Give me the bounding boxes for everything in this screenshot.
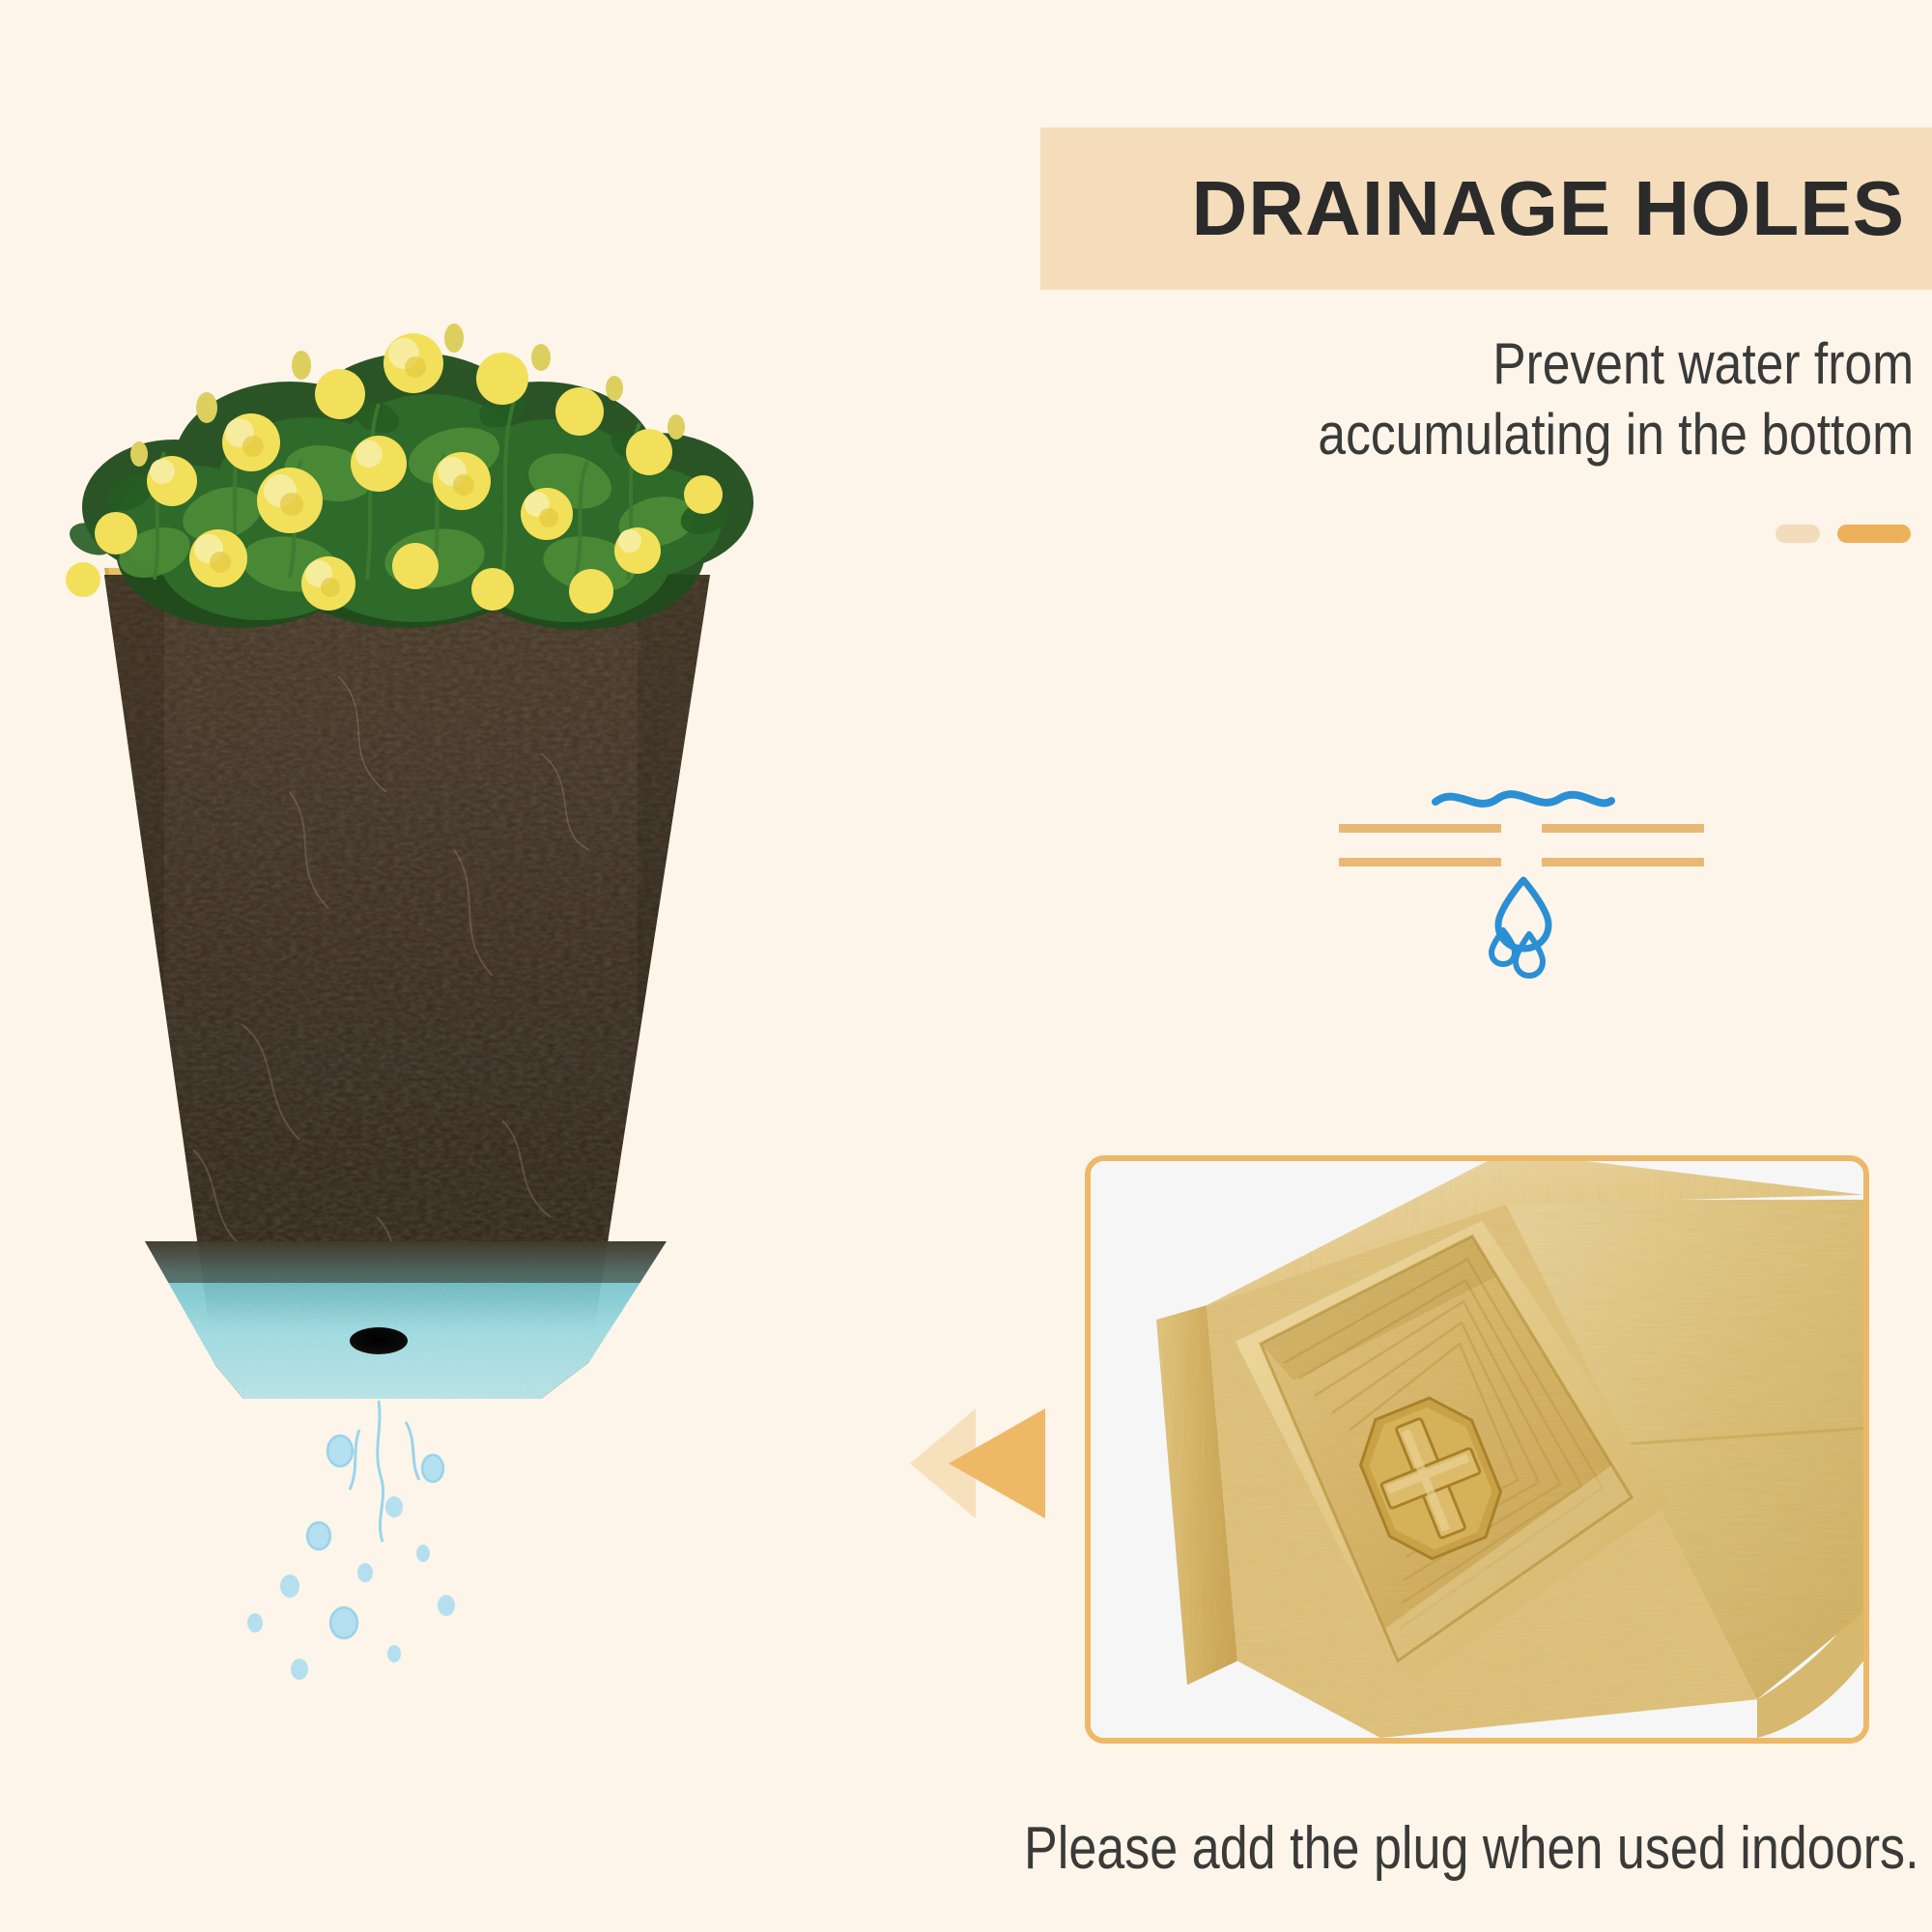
double-left-arrow	[889, 1401, 1082, 1526]
page-title: DRAINAGE HOLES	[1192, 170, 1906, 247]
water-draining-through-hole-icon	[1321, 768, 1727, 990]
drainage-hole	[350, 1327, 408, 1354]
surface-bars	[1339, 824, 1704, 867]
water-droplets	[247, 1435, 455, 1680]
infographic-canvas: DRAINAGE HOLES Prevent water from accumu…	[0, 0, 1932, 1932]
title-banner: DRAINAGE HOLES	[1040, 128, 1932, 290]
pill-indicator-inactive[interactable]	[1776, 525, 1820, 543]
inset-photo-frame	[1085, 1155, 1869, 1744]
drainage-layer	[135, 1236, 676, 1410]
pagination-indicators	[1776, 525, 1911, 543]
subtitle-block: Prevent water from accumulating in the b…	[1159, 328, 1932, 469]
footer-caption: Please add the plug when used indoors.	[796, 1814, 1932, 1883]
subtitle-line-1: Prevent water from	[1159, 328, 1914, 399]
subtitle-line-2: accumulating in the bottom	[1159, 399, 1914, 469]
pill-indicator-active[interactable]	[1837, 525, 1911, 543]
water-splash	[350, 1401, 419, 1542]
planter-scene	[0, 174, 869, 1874]
planter-bottom-drainage-plug-photo	[1091, 1161, 1863, 1738]
yellow-rose-bush	[65, 324, 753, 630]
water-wave-line	[1435, 794, 1611, 804]
